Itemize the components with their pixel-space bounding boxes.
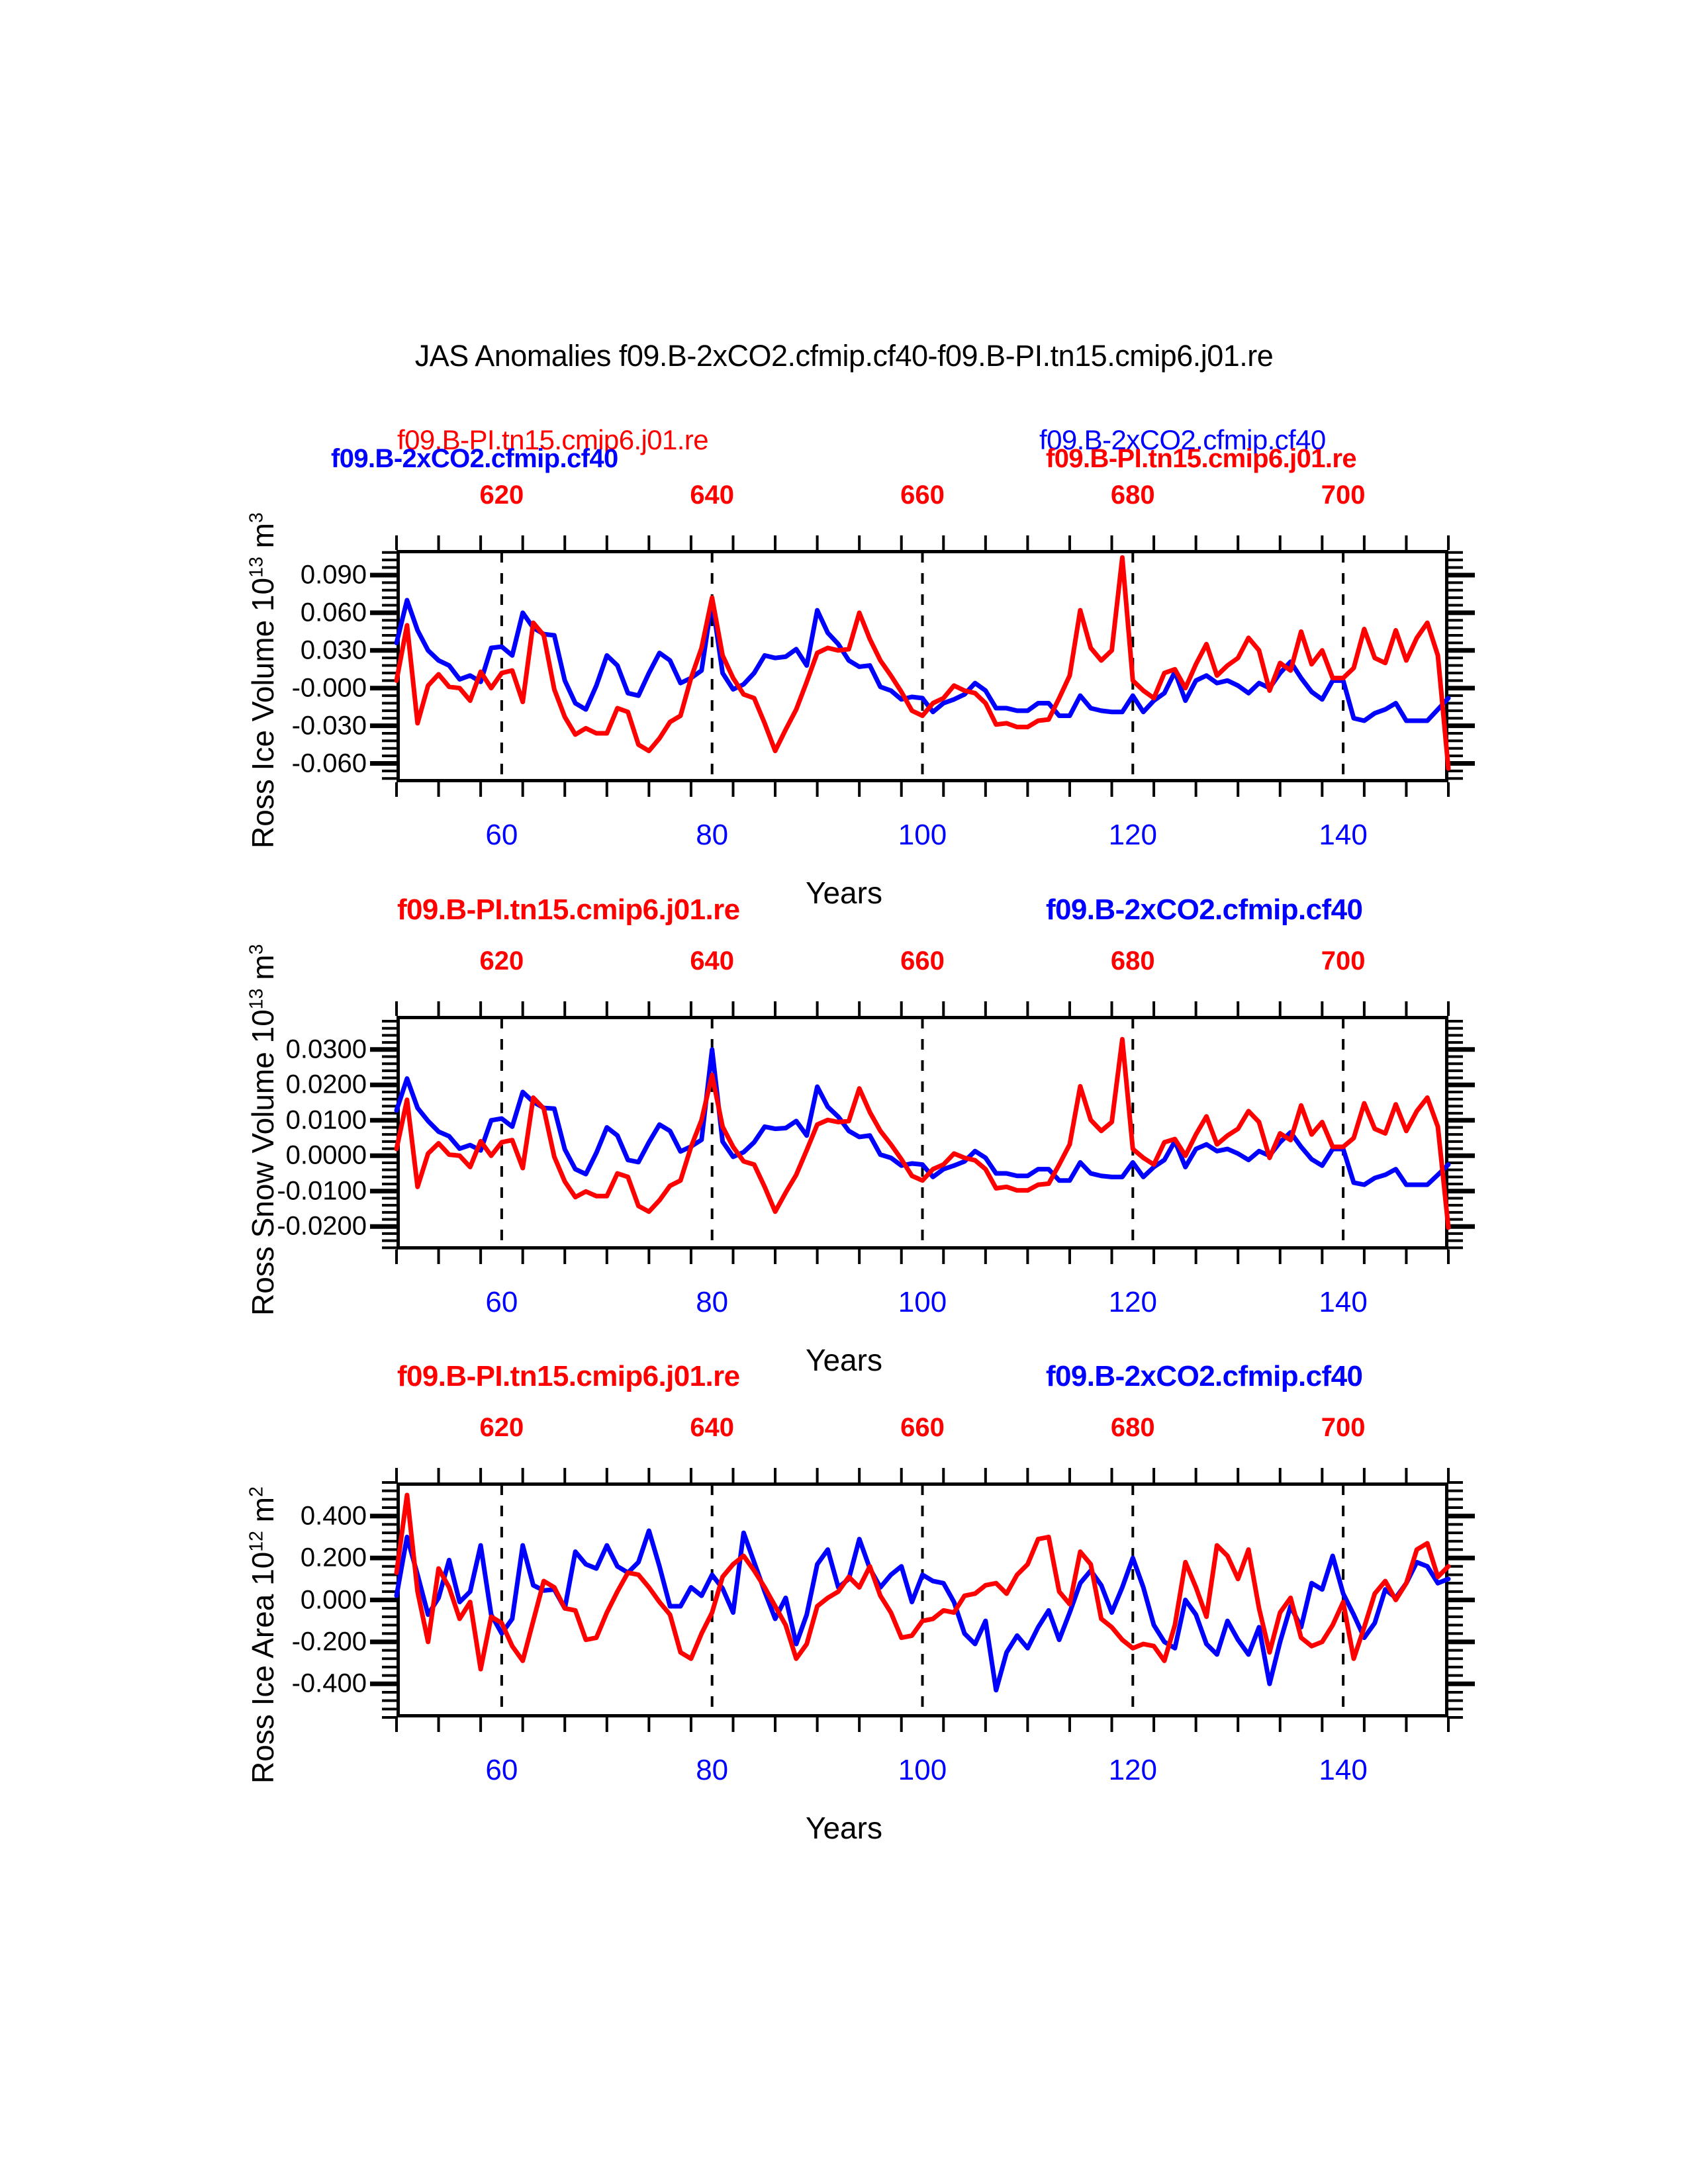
x-tick-label-top: 700 <box>1321 1413 1366 1443</box>
x-tick-label-bottom: 120 <box>1109 819 1157 852</box>
y-tick-label: 0.030 <box>198 635 367 665</box>
x-tick-label-bottom: 100 <box>898 1754 947 1787</box>
y-tick-label: -0.400 <box>198 1669 367 1699</box>
x-tick-label-top: 680 <box>1111 946 1155 976</box>
x-tick-label-top: 680 <box>1111 1413 1155 1443</box>
y-tick-label: -0.0100 <box>198 1176 367 1206</box>
x-tick-label-bottom: 100 <box>898 1286 947 1319</box>
y-tick-label: -0.030 <box>198 711 367 741</box>
x-tick-label-bottom: 80 <box>696 1286 728 1319</box>
y-tick-label: -0.000 <box>198 673 367 703</box>
y-tick-label: 0.0200 <box>198 1070 367 1100</box>
x-tick-label-top: 640 <box>690 946 734 976</box>
x-tick-label-bottom: 80 <box>696 1754 728 1787</box>
y-tick-label: -0.0200 <box>198 1212 367 1242</box>
y-tick-label: 0.0100 <box>198 1105 367 1135</box>
x-tick-label-bottom: 60 <box>485 1754 518 1787</box>
y-tick-label: -0.060 <box>198 749 367 778</box>
x-tick-label-bottom: 80 <box>696 819 728 852</box>
x-tick-label-top: 700 <box>1321 946 1366 976</box>
chart-page: JAS Anomalies f09.B-2xCO2.cfmip.cf40-f09… <box>0 0 1688 2184</box>
x-tick-label-top: 620 <box>480 946 524 976</box>
legend-red-right: f09.B-PI.tn15.cmip6.j01.re <box>1046 444 1356 474</box>
legend-red-left: f09.B-PI.tn15.cmip6.j01.re <box>397 1360 740 1393</box>
x-tick-label-top: 660 <box>900 480 945 510</box>
x-tick-label-top: 620 <box>480 1413 524 1443</box>
x-tick-label-bottom: 60 <box>485 819 518 852</box>
y-tick-label: 0.0000 <box>198 1141 367 1171</box>
x-axis-title-ross-ice-area: Years <box>0 1810 1688 1846</box>
x-axis-title-ross-ice-volume: Years <box>0 875 1688 911</box>
x-tick-label-top: 620 <box>480 480 524 510</box>
plot-frame-ross-snow-volume <box>397 1016 1448 1250</box>
y-tick-label: 0.000 <box>198 1585 367 1615</box>
x-tick-label-bottom: 120 <box>1109 1754 1157 1787</box>
y-tick-label: -0.200 <box>198 1627 367 1657</box>
x-tick-label-bottom: 140 <box>1319 819 1367 852</box>
x-tick-label-bottom: 140 <box>1319 1754 1367 1787</box>
x-tick-label-top: 660 <box>900 1413 945 1443</box>
x-tick-label-top: 680 <box>1111 480 1155 510</box>
x-tick-label-bottom: 100 <box>898 819 947 852</box>
plot-frame-ross-ice-volume <box>397 550 1448 782</box>
y-axis-title-ross-ice-area: Ross Ice Area 1012 m2 <box>245 1486 281 1784</box>
x-tick-label-top: 640 <box>690 1413 734 1443</box>
y-axis-title-ross-snow-volume: Ross Snow Volume 1013 m3 <box>245 944 281 1316</box>
y-tick-label: 0.060 <box>198 598 367 627</box>
y-tick-label: 0.400 <box>198 1501 367 1531</box>
legend-blue-right: f09.B-2xCO2.cfmip.cf40 <box>1046 893 1362 927</box>
y-tick-label: 0.090 <box>198 560 367 590</box>
legend-blue-left: f09.B-2xCO2.cfmip.cf40 <box>331 444 618 474</box>
y-tick-label: 0.0300 <box>198 1034 367 1064</box>
legend-blue-right: f09.B-2xCO2.cfmip.cf40 <box>1046 1360 1362 1393</box>
x-tick-label-top: 700 <box>1321 480 1366 510</box>
x-tick-label-bottom: 60 <box>485 1286 518 1319</box>
x-tick-label-bottom: 140 <box>1319 1286 1367 1319</box>
x-tick-label-top: 640 <box>690 480 734 510</box>
plot-frame-ross-ice-area <box>397 1482 1448 1717</box>
x-tick-label-bottom: 120 <box>1109 1286 1157 1319</box>
x-tick-label-top: 660 <box>900 946 945 976</box>
y-axis-title-ross-ice-volume: Ross Ice Volume 1013 m3 <box>245 512 281 848</box>
x-axis-title-ross-snow-volume: Years <box>0 1342 1688 1378</box>
legend-red-left: f09.B-PI.tn15.cmip6.j01.re <box>397 893 740 927</box>
y-tick-label: 0.200 <box>198 1543 367 1573</box>
